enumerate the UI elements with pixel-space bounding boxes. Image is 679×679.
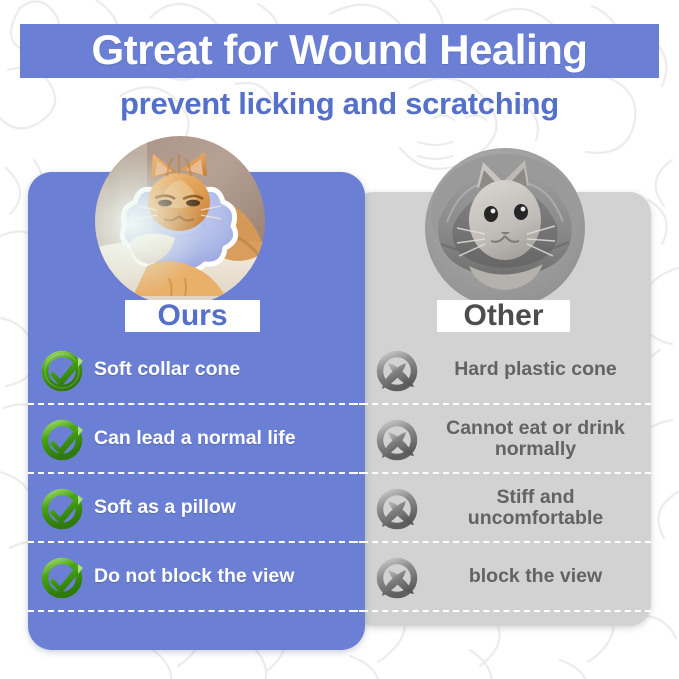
feature-list-ours: Soft collar cone Can lead a normal life xyxy=(28,336,365,612)
gray-cross-circle-icon xyxy=(374,554,420,600)
photo-ours-cat xyxy=(95,136,265,306)
green-check-circle-icon xyxy=(40,416,86,462)
infographic-page: Gtreat for Wound Healing prevent licking… xyxy=(0,0,679,679)
feature-label: Stiff and uncomfortable xyxy=(428,487,651,529)
title-band: Gtreat for Wound Healing xyxy=(20,24,659,78)
feature-row-ours-1: Soft collar cone xyxy=(28,336,365,405)
feature-label: Do not block the view xyxy=(94,566,365,587)
feature-label: Hard plastic cone xyxy=(428,359,651,380)
page-title: Gtreat for Wound Healing xyxy=(20,24,659,78)
feature-label: Cannot eat or drink normally xyxy=(428,418,651,460)
label-other: Other xyxy=(437,300,570,332)
feature-label: Soft as a pillow xyxy=(94,497,365,518)
label-ours: Ours xyxy=(125,300,260,332)
feature-label: Soft collar cone xyxy=(94,359,365,380)
feature-label: Can lead a normal life xyxy=(94,428,365,449)
feature-label: block the view xyxy=(428,566,651,587)
feature-row-ours-2: Can lead a normal life xyxy=(28,405,365,474)
feature-row-other-4: block the view xyxy=(352,543,651,612)
green-check-circle-icon xyxy=(40,347,86,393)
feature-row-other-3: Stiff and uncomfortable xyxy=(352,474,651,543)
page-subtitle: prevent licking and scratching xyxy=(0,86,679,122)
green-check-circle-icon xyxy=(40,485,86,531)
feature-row-other-1: Hard plastic cone xyxy=(352,336,651,405)
gray-cross-circle-icon xyxy=(374,485,420,531)
feature-row-other-2: Cannot eat or drink normally xyxy=(352,405,651,474)
feature-row-ours-3: Soft as a pillow xyxy=(28,474,365,543)
gray-cross-circle-icon xyxy=(374,416,420,462)
photo-other-cat xyxy=(425,148,585,308)
gray-cross-circle-icon xyxy=(374,347,420,393)
feature-row-ours-4: Do not block the view xyxy=(28,543,365,612)
green-check-circle-icon xyxy=(40,554,86,600)
feature-list-other: Hard plastic cone Cannot eat or drink no… xyxy=(352,336,651,612)
